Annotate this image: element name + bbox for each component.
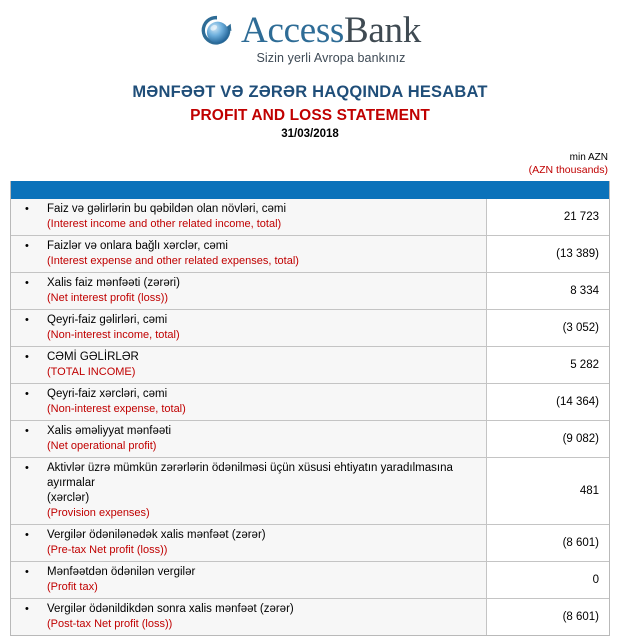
bullet-icon: •: [19, 565, 47, 580]
row-value-cell: (13 389): [487, 236, 610, 273]
statement-date: 31/03/2018: [0, 128, 620, 140]
row-label-en: (Interest income and other related incom…: [47, 217, 480, 231]
table-header-accent-bar: [11, 181, 609, 199]
row-label-en: (Provision expenses): [47, 506, 480, 520]
currency-units-note: min AZN (AZN thousands): [0, 151, 620, 177]
row-list-item: •Aktivlər üzrə mümkün zərərlərin ödənilm…: [19, 461, 480, 520]
profit-loss-table-wrapper: •Faiz və gəlirlərin bu qəbildən olan növ…: [10, 181, 610, 636]
brand-logo-block: AccessBank Sizin yerli Avropa bankınız: [0, 0, 620, 65]
row-value-cell: 0: [487, 562, 610, 599]
logo-row: AccessBank: [199, 12, 421, 50]
bullet-icon: •: [19, 602, 47, 617]
bullet-icon: •: [19, 528, 47, 543]
row-label-text: Xalis əməliyyat mənfəəti(Net operational…: [47, 424, 480, 453]
row-label-text: Aktivlər üzrə mümkün zərərlərin ödənilmə…: [47, 461, 480, 520]
table-row: •CƏMİ GƏLİRLƏR(TOTAL INCOME)5 282: [11, 347, 609, 384]
row-value-cell: 481: [487, 458, 610, 525]
row-list-item: •Qeyri-faiz gəlirləri, cəmi(Non-interest…: [19, 313, 480, 342]
row-list-item: •Vergilər ödənilənədək xalis mənfəət (zə…: [19, 528, 480, 557]
row-label-cell: •Xalis əməliyyat mənfəəti(Net operationa…: [11, 421, 487, 458]
profit-loss-table: •Faiz və gəlirlərin bu qəbildən olan növ…: [11, 199, 609, 635]
row-label-az: Mənfəətdən ödənilən vergilər: [47, 565, 480, 580]
page-title-az: MƏNFƏƏT VƏ ZƏRƏR HAQQINDA HESABAT: [0, 83, 620, 102]
table-row: •Vergilər ödənilənədək xalis mənfəət (zə…: [11, 525, 609, 562]
brand-name-bank: Bank: [344, 10, 421, 51]
globe-refresh-icon: [199, 13, 235, 49]
bullet-icon: •: [19, 202, 47, 217]
row-label-az: Xalis əməliyyat mənfəəti: [47, 424, 480, 439]
brand-wordmark: AccessBank: [241, 12, 421, 50]
row-label-text: Vergilər ödənilənədək xalis mənfəət (zər…: [47, 528, 480, 557]
row-label-en: (Net operational profit): [47, 439, 480, 453]
bullet-icon: •: [19, 276, 47, 291]
row-label-az: Aktivlər üzrə mümkün zərərlərin ödənilmə…: [47, 461, 480, 491]
row-label-text: Qeyri-faiz gəlirləri, cəmi(Non-interest …: [47, 313, 480, 342]
row-label-cell: •Vergilər ödənildikdən sonra xalis mənfə…: [11, 599, 487, 636]
row-list-item: •Qeyri-faiz xərcləri, cəmi(Non-interest …: [19, 387, 480, 416]
row-label-cell: •Aktivlər üzrə mümkün zərərlərin ödənilm…: [11, 458, 487, 525]
bullet-icon: •: [19, 424, 47, 439]
row-label-en: (Pre-tax Net profit (loss)): [47, 543, 480, 557]
row-label-text: Mənfəətdən ödənilən vergilər(Profit tax): [47, 565, 480, 594]
row-value-cell: (3 052): [487, 310, 610, 347]
table-row: •Qeyri-faiz gəlirləri, cəmi(Non-interest…: [11, 310, 609, 347]
brand-tagline: Sizin yerli Avropa bankınız: [256, 51, 405, 65]
row-label-az: Vergilər ödənilənədək xalis mənfəət (zər…: [47, 528, 480, 543]
row-list-item: •Faiz və gəlirlərin bu qəbildən olan növ…: [19, 202, 480, 231]
row-value-cell: (14 364): [487, 384, 610, 421]
table-row: •Vergilər ödənildikdən sonra xalis mənfə…: [11, 599, 609, 636]
row-label-text: Faiz və gəlirlərin bu qəbildən olan növl…: [47, 202, 480, 231]
bullet-icon: •: [19, 313, 47, 328]
row-list-item: •Xalis əməliyyat mənfəəti(Net operationa…: [19, 424, 480, 453]
row-value-cell: (8 601): [487, 599, 610, 636]
row-value-cell: 5 282: [487, 347, 610, 384]
row-value-cell: 8 334: [487, 273, 610, 310]
row-list-item: •CƏMİ GƏLİRLƏR(TOTAL INCOME): [19, 350, 480, 379]
row-label-az: Faiz və gəlirlərin bu qəbildən olan növl…: [47, 202, 480, 217]
row-label-cell: •Xalis faiz mənfəəti (zərəri)(Net intere…: [11, 273, 487, 310]
row-label-cell: •Qeyri-faiz xərcləri, cəmi(Non-interest …: [11, 384, 487, 421]
row-label-az: Faizlər və onlara bağlı xərclər, cəmi: [47, 239, 480, 254]
row-label-az: Vergilər ödənildikdən sonra xalis mənfəə…: [47, 602, 480, 617]
bullet-icon: •: [19, 461, 47, 476]
table-row: •Qeyri-faiz xərcləri, cəmi(Non-interest …: [11, 384, 609, 421]
row-label-az: Xalis faiz mənfəəti (zərəri): [47, 276, 480, 291]
row-value-cell: 21 723: [487, 199, 610, 236]
row-label-en: (Non-interest income, total): [47, 328, 480, 342]
row-label-text: Qeyri-faiz xərcləri, cəmi(Non-interest e…: [47, 387, 480, 416]
row-label-text: CƏMİ GƏLİRLƏR(TOTAL INCOME): [47, 350, 480, 379]
units-label-az: min AZN: [0, 151, 608, 164]
row-label-cell: •Faiz və gəlirlərin bu qəbildən olan növ…: [11, 199, 487, 236]
table-row: •Xalis əməliyyat mənfəəti(Net operationa…: [11, 421, 609, 458]
row-value-cell: (8 601): [487, 525, 610, 562]
row-label-text: Xalis faiz mənfəəti (zərəri)(Net interes…: [47, 276, 480, 305]
row-list-item: •Faizlər və onlara bağlı xərclər, cəmi(I…: [19, 239, 480, 268]
row-list-item: •Mənfəətdən ödənilən vergilər(Profit tax…: [19, 565, 480, 594]
table-row: •Faizlər və onlara bağlı xərclər, cəmi(I…: [11, 236, 609, 273]
row-label-cell: •Faizlər və onlara bağlı xərclər, cəmi(I…: [11, 236, 487, 273]
row-label-en: (TOTAL INCOME): [47, 365, 480, 379]
bullet-icon: •: [19, 350, 47, 365]
row-value-cell: (9 082): [487, 421, 610, 458]
row-label-en: (Interest expense and other related expe…: [47, 254, 480, 268]
table-row: •Faiz və gəlirlərin bu qəbildən olan növ…: [11, 199, 609, 236]
row-list-item: •Vergilər ödənildikdən sonra xalis mənfə…: [19, 602, 480, 631]
row-label-cell: •Vergilər ödənilənədək xalis mənfəət (zə…: [11, 525, 487, 562]
row-label-text: Faizlər və onlara bağlı xərclər, cəmi(In…: [47, 239, 480, 268]
table-row: •Xalis faiz mənfəəti (zərəri)(Net intere…: [11, 273, 609, 310]
row-label-az: Qeyri-faiz gəlirləri, cəmi: [47, 313, 480, 328]
table-row: •Mənfəətdən ödənilən vergilər(Profit tax…: [11, 562, 609, 599]
page-title-en: PROFIT AND LOSS STATEMENT: [0, 107, 620, 125]
row-label-cell: •CƏMİ GƏLİRLƏR(TOTAL INCOME): [11, 347, 487, 384]
table-row: •Aktivlər üzrə mümkün zərərlərin ödənilm…: [11, 458, 609, 525]
row-label-text: Vergilər ödənildikdən sonra xalis mənfəə…: [47, 602, 480, 631]
profit-loss-statement-page: AccessBank Sizin yerli Avropa bankınız M…: [0, 0, 620, 566]
bullet-icon: •: [19, 239, 47, 254]
units-label-en: (AZN thousands): [0, 164, 608, 177]
row-label-az: Qeyri-faiz xərcləri, cəmi: [47, 387, 480, 402]
row-label-az: CƏMİ GƏLİRLƏR: [47, 350, 480, 365]
bullet-icon: •: [19, 387, 47, 402]
brand-name-access: Access: [241, 10, 344, 51]
row-label-cell: •Mənfəətdən ödənilən vergilər(Profit tax…: [11, 562, 487, 599]
row-label-en: (Post-tax Net profit (loss)): [47, 617, 480, 631]
row-label-en: (Profit tax): [47, 580, 480, 594]
row-label-en: (Net interest profit (loss)): [47, 291, 480, 305]
row-label-cell: •Qeyri-faiz gəlirləri, cəmi(Non-interest…: [11, 310, 487, 347]
row-list-item: •Xalis faiz mənfəəti (zərəri)(Net intere…: [19, 276, 480, 305]
row-label-az-continued: (xərclər): [47, 491, 480, 506]
row-label-en: (Non-interest expense, total): [47, 402, 480, 416]
document-titles: MƏNFƏƏT VƏ ZƏRƏR HAQQINDA HESABAT PROFIT…: [0, 83, 620, 140]
